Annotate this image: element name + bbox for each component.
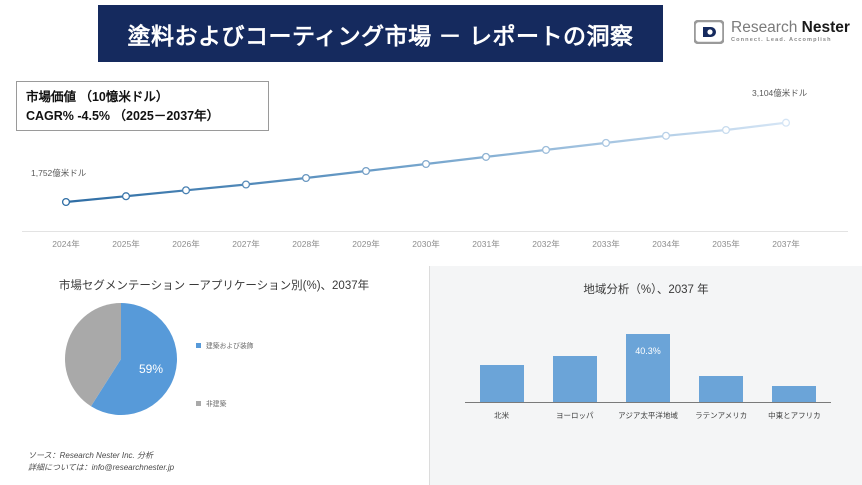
market-value-line-chart [0, 70, 862, 255]
regional-bar-chart: 北米ヨーロッパアジア太平洋地域40.3%ラテンアメリカ中東とアフリカ [429, 315, 862, 425]
line-data-point [123, 193, 130, 200]
legend-label-architectural: 建築および装飾 [206, 340, 254, 350]
logo-text: Research Nester Connect. Lead. Accomplis… [731, 20, 850, 44]
x-axis-label-2037年: 2037年 [772, 238, 799, 250]
pie-data-label: 59% [139, 362, 163, 376]
x-axis-label-2026年: 2026年 [172, 238, 199, 250]
x-axis-label-2025年: 2025年 [112, 238, 139, 250]
line-data-point [303, 175, 310, 182]
bar-label-中東とアフリカ: 中東とアフリカ [768, 410, 821, 421]
line-data-point [483, 154, 490, 161]
line-chart-svg [0, 70, 862, 255]
line-data-point [243, 181, 250, 188]
x-axis-label-2027年: 2027年 [232, 238, 259, 250]
contact-line: 詳細については：info@researchnester.jp [28, 462, 174, 474]
x-axis-label-2028年: 2028年 [292, 238, 319, 250]
line-start-annotation: 1,752億米ドル [31, 167, 86, 179]
line-end-annotation: 3,104億米ドル [752, 87, 807, 99]
regional-analysis-title: 地域分析（%）、2037 年 [430, 266, 862, 299]
bar-label-ヨーロッパ: ヨーロッパ [556, 410, 594, 421]
legend-item-architectural[interactable]: 建築および装飾 [196, 340, 316, 350]
page-title: 塗料およびコーティング市場 － レポートの洞察 [128, 17, 634, 51]
line-data-point [543, 147, 550, 154]
x-axis-label-2033年: 2033年 [592, 238, 619, 250]
bar-label-アジア太平洋地域: アジア太平洋地域 [618, 410, 678, 421]
source-line: ソース：Research Nester Inc. 分析 [28, 450, 174, 462]
line-data-point [363, 168, 370, 175]
x-axis-label-2029年: 2029年 [352, 238, 379, 250]
chain-link-logo-icon [694, 20, 724, 44]
line-data-point [603, 140, 610, 147]
pie-chart-svg [62, 300, 180, 418]
line-data-point [723, 127, 730, 134]
legend-label-non-architectural: 非建築 [206, 398, 226, 408]
logo-name-light: Research [731, 19, 802, 36]
pie-legend: 建築および装飾 非建築 [196, 340, 316, 408]
x-axis-label-2030年: 2030年 [412, 238, 439, 250]
header-banner: 塗料およびコーティング市場 － レポートの洞察 [98, 5, 663, 62]
x-axis-label-2032年: 2032年 [532, 238, 559, 250]
x-axis-label-2035年: 2035年 [712, 238, 739, 250]
bar-北米 [480, 365, 524, 402]
legend-item-non-architectural[interactable]: 非建築 [196, 398, 316, 408]
source-note: ソース：Research Nester Inc. 分析 詳細については：info… [28, 450, 174, 474]
legend-swatch-gray-icon [196, 401, 201, 406]
bar-label-北米: 北米 [494, 410, 509, 421]
report-slide: 塗料およびコーティング市場 － レポートの洞察 Research Nester … [0, 0, 862, 485]
line-data-point [423, 161, 430, 168]
x-axis-label-2034年: 2034年 [652, 238, 679, 250]
x-axis-label-2031年: 2031年 [472, 238, 499, 250]
bar-ラテンアメリカ [699, 376, 743, 402]
logo-name-bold: Nester [802, 19, 850, 36]
bar-label-ラテンアメリカ: ラテンアメリカ [695, 410, 747, 421]
segmentation-title: 市場セグメンテーション ーアプリケーション別(%)、2037年 [0, 266, 428, 295]
research-nester-logo: Research Nester Connect. Lead. Accomplis… [694, 14, 854, 50]
legend-swatch-blue-icon [196, 343, 201, 348]
line-data-point [183, 187, 190, 194]
logo-tagline: Connect. Lead. Accomplish [731, 38, 850, 44]
line-data-point [663, 132, 670, 139]
line-chart-x-labels: 2024年2025年2026年2027年2028年2029年2030年2031年… [0, 238, 862, 254]
bar-ヨーロッパ [553, 356, 597, 402]
bar-value-アジア太平洋地域: 40.3% [635, 346, 661, 356]
line-data-point [783, 119, 790, 126]
line-chart-x-axis [22, 231, 848, 232]
bar-アジア太平洋地域 [626, 334, 670, 402]
logo-name: Research Nester [731, 20, 850, 36]
bar-中東とアフリカ [772, 386, 816, 402]
x-axis-label-2024年: 2024年 [52, 238, 79, 250]
line-data-point [63, 199, 70, 206]
